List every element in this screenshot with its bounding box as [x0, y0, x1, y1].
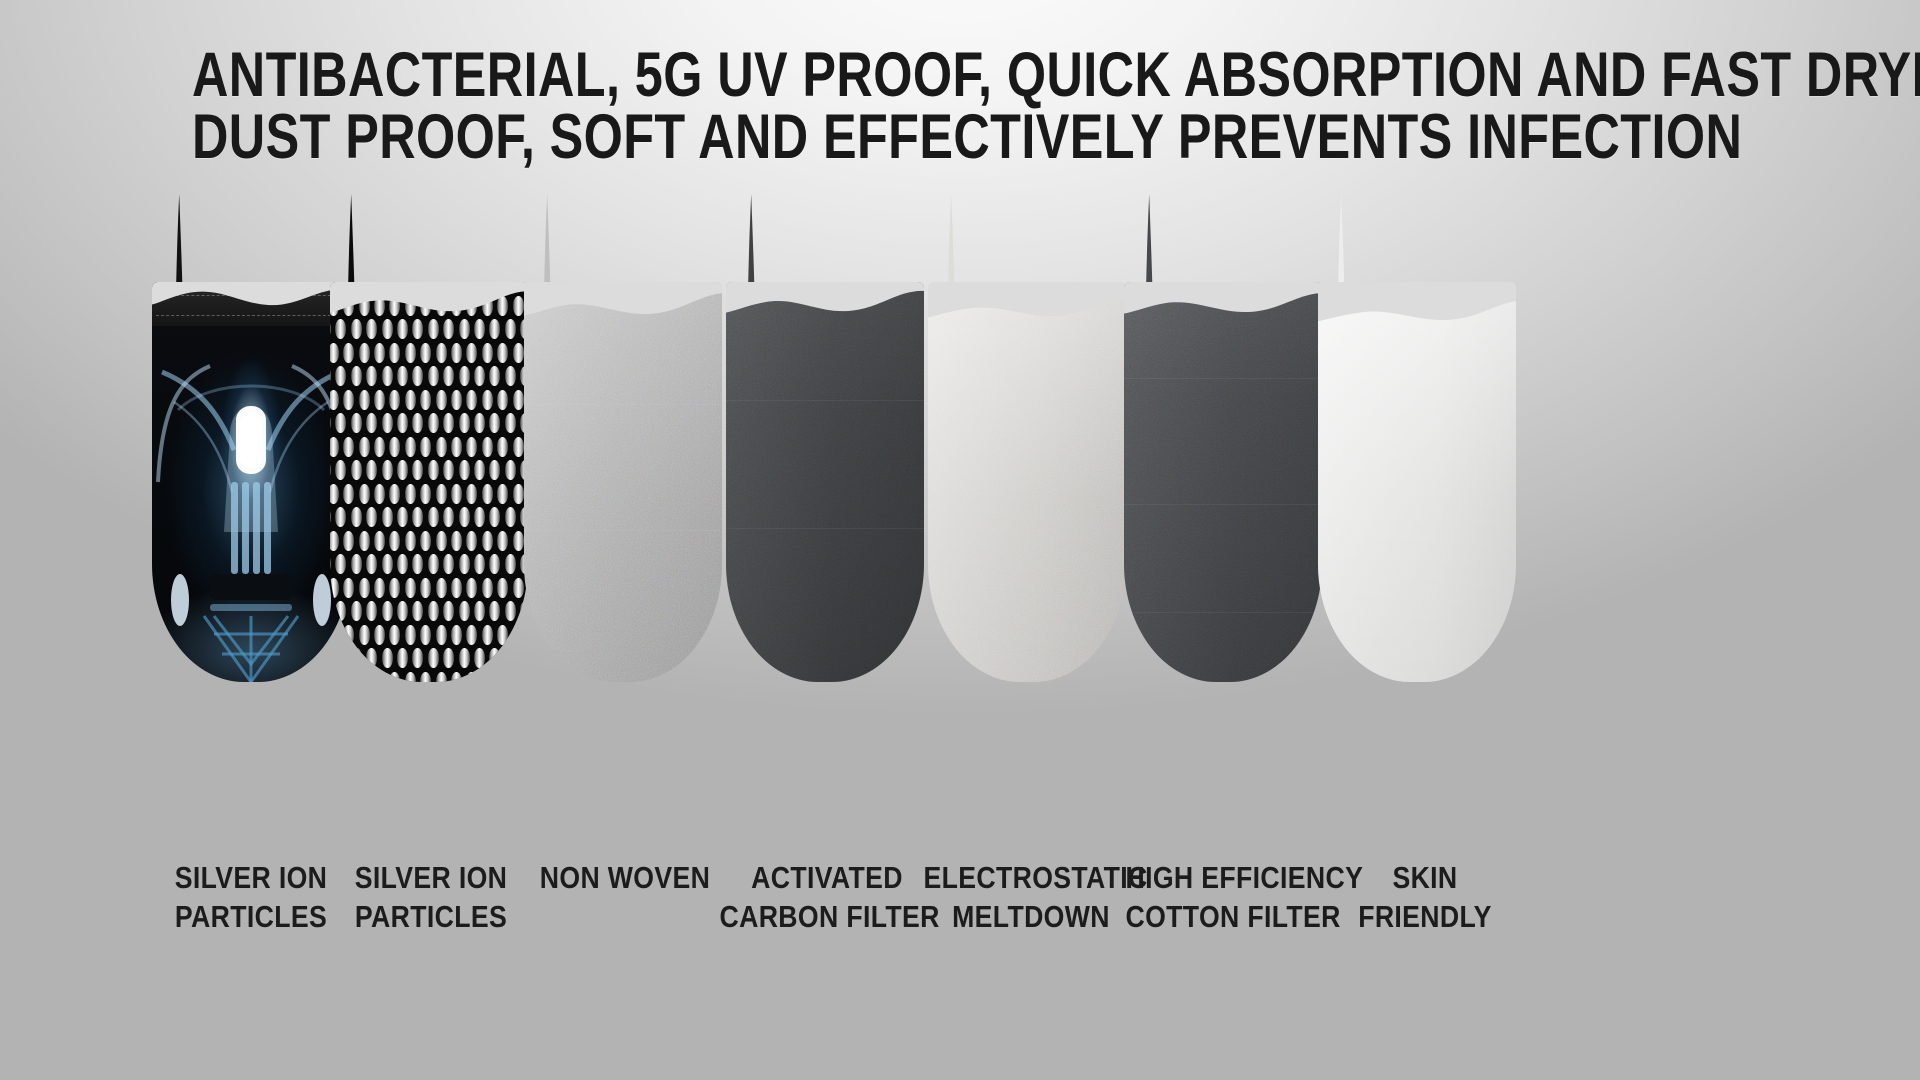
caption-skin-friendly: SKIN FRIENDLY — [1318, 858, 1533, 936]
filter-layer-silver-ion-particles-beads — [330, 212, 528, 682]
layer-texture-tech-glow — [152, 282, 350, 682]
caption-line: SILVER ION — [324, 858, 539, 897]
layer-texture-fiber — [726, 282, 924, 682]
silver-bead-pattern — [330, 282, 528, 682]
caption-line: ACTIVATED — [720, 858, 935, 897]
layer-body — [928, 282, 1126, 682]
caption-line: HIGH EFFICIENCY — [1126, 858, 1341, 897]
filter-layer-silver-ion-particles-tech — [152, 212, 350, 682]
caption-electrostatic-meltdown: ELECTROSTATIC MELTDOWN — [924, 858, 1139, 936]
page-title: ANTIBACTERIAL, 5G UV PROOF, QUICK ABSORP… — [0, 44, 1920, 168]
filter-layer-non-woven — [524, 212, 722, 682]
caption-non-woven: NON WOVEN — [518, 858, 733, 897]
caption-line: FRIENDLY — [1318, 897, 1533, 936]
caption-line: PARTICLES — [324, 897, 539, 936]
fiber-grain-overlay — [524, 282, 722, 682]
layer-texture-fiber — [928, 282, 1126, 682]
filter-layer-electrostatic-meltdown — [928, 212, 1126, 682]
filter-layer-activated-carbon-filter — [726, 212, 924, 682]
caption-activated-carbon-filter: ACTIVATED CARBON FILTER — [720, 858, 935, 936]
title-line-1: ANTIBACTERIAL, 5G UV PROOF, QUICK ABSORP… — [192, 44, 1728, 106]
filter-layer-row — [0, 212, 1920, 682]
layer-body — [330, 282, 528, 682]
layer-texture-fiber — [1124, 282, 1322, 682]
layer-texture-fiber — [1318, 282, 1516, 682]
fiber-grain-overlay — [928, 282, 1126, 682]
layer-texture-silver-beads — [330, 282, 528, 682]
infographic-canvas: ANTIBACTERIAL, 5G UV PROOF, QUICK ABSORP… — [0, 0, 1920, 1080]
filter-layer-high-efficiency-cotton-filter — [1124, 212, 1322, 682]
layer-texture-fiber — [524, 282, 722, 682]
caption-line: CARBON FILTER — [720, 897, 935, 936]
fiber-grain-overlay — [726, 282, 924, 682]
tech-arcs-decoration — [152, 282, 350, 682]
caption-line: COTTON FILTER — [1126, 897, 1341, 936]
layer-body — [1318, 282, 1516, 682]
layer-body — [1124, 282, 1322, 682]
caption-high-efficiency-cotton-filter: HIGH EFFICIENCY COTTON FILTER — [1126, 858, 1341, 936]
stitched-edge-band — [152, 282, 350, 326]
layer-body — [726, 282, 924, 682]
caption-line: ELECTROSTATIC — [924, 858, 1139, 897]
caption-line: NON WOVEN — [518, 858, 733, 897]
fiber-grain-overlay — [1124, 282, 1322, 682]
layer-body — [524, 282, 722, 682]
caption-row: SILVER ION PARTICLES SILVER ION PARTICLE… — [0, 858, 1920, 988]
caption-line: SKIN — [1318, 858, 1533, 897]
title-line-2: DUST PROOF, SOFT AND EFFECTIVELY PREVENT… — [192, 106, 1728, 168]
caption-silver-ion-particles-beads: SILVER ION PARTICLES — [324, 858, 539, 936]
layer-body — [152, 282, 350, 682]
fiber-grain-overlay — [1318, 282, 1516, 682]
caption-line: MELTDOWN — [924, 897, 1139, 936]
filter-layer-skin-friendly — [1318, 212, 1516, 682]
